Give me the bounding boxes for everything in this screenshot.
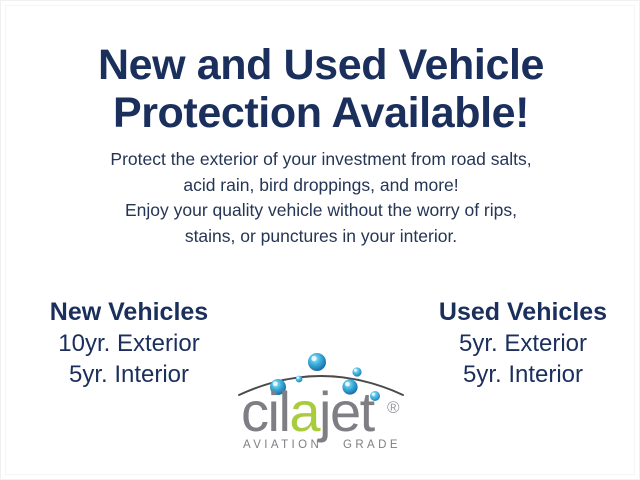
coverage-used-exterior: 5yr. Exterior: [373, 328, 640, 359]
headline-line-2: Protection Available!: [1, 89, 640, 137]
coverage-title-used-vehicles: Used Vehicles: [373, 297, 640, 328]
logo-tagline-left: AVIATION: [243, 439, 322, 451]
advertisement-canvas: New and Used Vehicle Protection Availabl…: [0, 0, 640, 480]
logo-tagline-right: GRADE: [343, 439, 401, 451]
coverage-column-used-vehicles: Used Vehicles 5yr. Exterior 5yr. Interio…: [373, 297, 640, 390]
body-copy-line-3: Enjoy your quality vehicle without the w…: [1, 198, 640, 224]
logo-wordmark-cil: cil: [241, 380, 289, 443]
body-copy-line-1: Protect the exterior of your investment …: [1, 147, 640, 173]
cilajet-logo: cilajet ® AVIATION GRADE: [237, 343, 405, 451]
logo-wordmark: cilajet: [241, 380, 376, 443]
body-copy-line-4: stains, or punctures in your interior.: [1, 224, 640, 250]
logo-wordmark-a: a: [289, 380, 321, 443]
coverage-title-new-vehicles: New Vehicles: [0, 297, 279, 328]
page-title: New and Used Vehicle Protection Availabl…: [1, 41, 640, 137]
headline-line-1: New and Used Vehicle: [1, 41, 640, 89]
logo-wordmark-jet: jet: [317, 380, 376, 443]
coverage-used-interior: 5yr. Interior: [373, 359, 640, 390]
logo-registered-trademark-icon: ®: [387, 398, 400, 417]
body-copy: Protect the exterior of your investment …: [1, 147, 640, 249]
body-copy-line-2: acid rain, bird droppings, and more!: [1, 173, 640, 199]
